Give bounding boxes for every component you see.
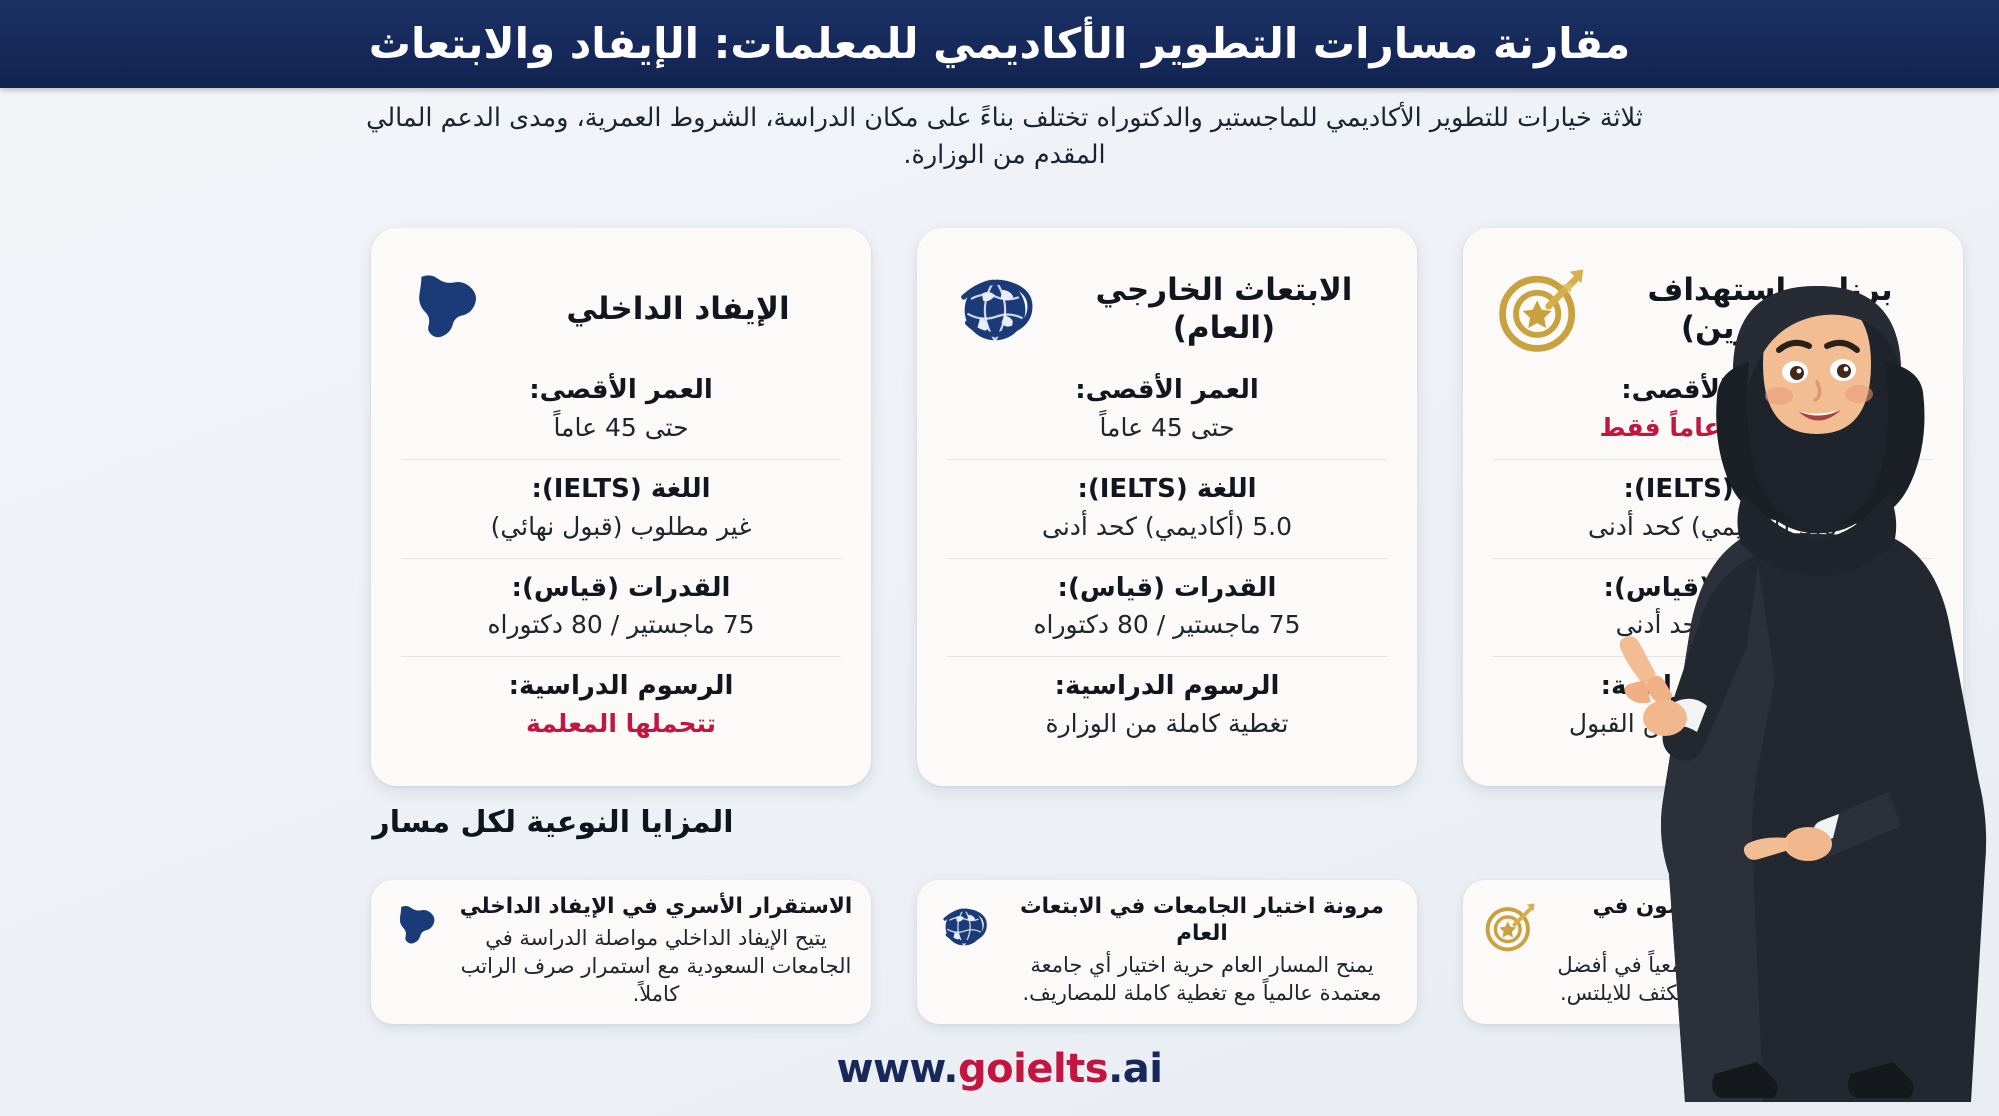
page-subtitle: ثلاثة خيارات للتطوير الأكاديمي للماجستير… (0, 100, 1999, 174)
track-card-internal[interactable]: الإيفاد الداخلي العمر الأقصى: حتى 45 عام… (371, 228, 871, 786)
benefit-card-targeting[interactable]: دعم لغوي وقبول مضمون في "استهداف" يوفر ب… (1463, 880, 1963, 1024)
spec-row: اللغة (IELTS): 5.0 (أكاديمي) كحد أدنى (1493, 459, 1933, 558)
spec-row: اللغة (IELTS): غير مطلوب (قبول نهائي) (401, 459, 841, 558)
spec-value: تغطية كاملة من الوزارة (947, 707, 1387, 740)
target-star-icon (1493, 262, 1589, 358)
spec-label: الرسوم الدراسية: (1493, 670, 1933, 704)
spec-value: 75 ماجستير / 80 دكتوراه (947, 608, 1387, 641)
benefit-title: مرونة اختيار الجامعات في الابتعاث العام (1005, 894, 1399, 948)
card-header: برنامج استهداف (للمتميزين) (1493, 254, 1933, 366)
track-title: برنامج استهداف (للمتميزين) (1607, 272, 1933, 348)
track-rows: العمر الأقصى: حتى 45 عاماً اللغة (IELTS)… (947, 372, 1387, 755)
spec-value: حتى 35 عاماً فقط (1493, 411, 1933, 444)
spec-label: اللغة (IELTS): (947, 473, 1387, 507)
benefits-heading: المزايا النوعية لكل مسار (303, 805, 803, 840)
spec-row: القدرات (قياس): 75 ماجستير / 80 دكتوراه (401, 558, 841, 657)
url-tld: .ai (1108, 1046, 1162, 1092)
url-domain: goielts (958, 1046, 1108, 1092)
spec-value: 5.0 (أكاديمي) كحد أدنى (947, 510, 1387, 543)
benefit-body: يتيح الإيفاد الداخلي مواصلة الدراسة في ا… (459, 924, 853, 1008)
spec-value: تتحملها المعلمة (401, 707, 841, 740)
spec-label: العمر الأقصى: (947, 374, 1387, 408)
spec-label: العمر الأقصى: (401, 374, 841, 408)
saudi-map-icon (401, 262, 497, 358)
page-title: مقارنة مسارات التطوير الأكاديمي للمعلمات… (369, 21, 1631, 67)
benefit-text: دعم لغوي وقبول مضمون في "استهداف" يوفر ب… (1551, 894, 1945, 1007)
spec-value: تغطية كاملة + تأمين القبول (1493, 707, 1933, 740)
spec-row: القدرات (قياس): 75 ماجستير / 80 دكتوراه (947, 558, 1387, 657)
track-title: الإيفاد الداخلي (515, 291, 841, 329)
spec-row: العمر الأقصى: حتى 35 عاماً فقط (1493, 372, 1933, 459)
globe-icon (935, 898, 993, 956)
spec-row: العمر الأقصى: حتى 45 عاماً (947, 372, 1387, 459)
track-rows: العمر الأقصى: حتى 35 عاماً فقط اللغة (IE… (1493, 372, 1933, 755)
spec-value: 75 ماجستير / 80 دكتوراه (401, 608, 841, 641)
spec-label: اللغة (IELTS): (1493, 473, 1933, 507)
target-star-icon (1481, 898, 1539, 956)
spec-row: العمر الأقصى: حتى 45 عاماً (401, 372, 841, 459)
benefit-card-external[interactable]: مرونة اختيار الجامعات في الابتعاث العام … (917, 880, 1417, 1024)
spec-label: الرسوم الدراسية: (401, 670, 841, 704)
spec-value: 80 درجة كحد أدنى (1493, 608, 1933, 641)
spec-row: القدرات (قياس): 80 درجة كحد أدنى (1493, 558, 1933, 657)
header-bar: مقارنة مسارات التطوير الأكاديمي للمعلمات… (0, 0, 1999, 88)
spec-label: العمر الأقصى: (1493, 374, 1933, 408)
track-title: الابتعاث الخارجي (العام) (1061, 272, 1387, 348)
spec-label: القدرات (قياس): (1493, 572, 1933, 606)
track-cards-row: برنامج استهداف (للمتميزين) العمر الأقصى:… (293, 228, 1963, 786)
spec-row: الرسوم الدراسية: تغطية كاملة + تأمين الق… (1493, 656, 1933, 755)
benefit-text: مرونة اختيار الجامعات في الابتعاث العام … (1005, 894, 1399, 1007)
benefit-title: الاستقرار الأسري في الإيفاد الداخلي (459, 894, 853, 921)
track-rows: العمر الأقصى: حتى 45 عاماً اللغة (IELTS)… (401, 372, 841, 755)
spec-label: اللغة (IELTS): (401, 473, 841, 507)
spec-row: الرسوم الدراسية: تتحملها المعلمة (401, 656, 841, 755)
globe-icon (947, 262, 1043, 358)
track-card-external[interactable]: الابتعاث الخارجي (العام) العمر الأقصى: ح… (917, 228, 1417, 786)
track-card-targeting[interactable]: برنامج استهداف (للمتميزين) العمر الأقصى:… (1463, 228, 1963, 786)
benefits-row: دعم لغوي وقبول مضمون في "استهداف" يوفر ب… (293, 880, 1963, 1024)
benefit-body: يوفر برنامج استهداف قبولاً جامعياً في أف… (1551, 951, 1945, 1007)
spec-label: القدرات (قياس): (401, 572, 841, 606)
spec-label: القدرات (قياس): (947, 572, 1387, 606)
spec-row: اللغة (IELTS): 5.0 (أكاديمي) كحد أدنى (947, 459, 1387, 558)
card-header: الابتعاث الخارجي (العام) (947, 254, 1387, 366)
spec-value: 5.0 (أكاديمي) كحد أدنى (1493, 510, 1933, 543)
url-prefix: www. (837, 1046, 959, 1092)
spec-row: الرسوم الدراسية: تغطية كاملة من الوزارة (947, 656, 1387, 755)
benefit-card-internal[interactable]: الاستقرار الأسري في الإيفاد الداخلي يتيح… (371, 880, 871, 1024)
spec-label: الرسوم الدراسية: (947, 670, 1387, 704)
spec-value: حتى 45 عاماً (401, 411, 841, 444)
benefit-title: دعم لغوي وقبول مضمون في "استهداف" (1551, 894, 1945, 948)
benefit-body: يمنح المسار العام حرية اختيار أي جامعة م… (1005, 951, 1399, 1007)
spec-value: غير مطلوب (قبول نهائي) (401, 510, 841, 543)
spec-value: حتى 45 عاماً (947, 411, 1387, 444)
website-url[interactable]: www.goielts.ai (837, 1046, 1163, 1092)
card-header: الإيفاد الداخلي (401, 254, 841, 366)
benefit-text: الاستقرار الأسري في الإيفاد الداخلي يتيح… (459, 894, 853, 1008)
footer: www.goielts.ai (0, 1046, 1999, 1092)
saudi-map-icon (389, 898, 447, 956)
